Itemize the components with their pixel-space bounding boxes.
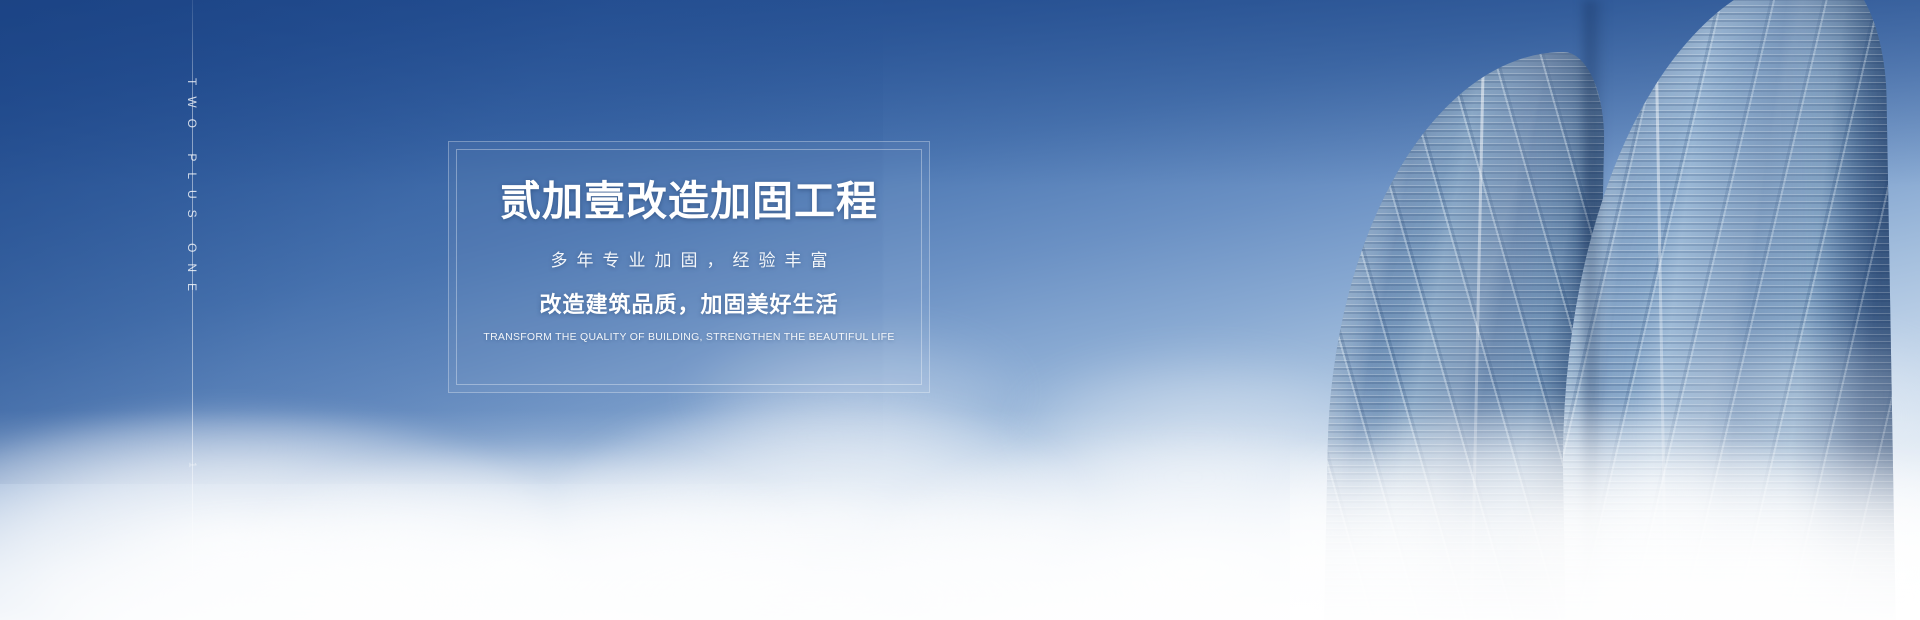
vertical-brand-mark: 1 <box>187 462 198 472</box>
hero-subline: 多年专业加固，经验丰富 <box>542 252 837 269</box>
vertical-brand-text: TWO PLUS ONE <box>185 78 199 302</box>
hero-headline: 贰加壹改造加固工程 <box>500 181 878 222</box>
bottom-haze <box>0 410 1920 620</box>
hero-english-tagline: TRANSFORM THE QUALITY OF BUILDING, STREN… <box>483 332 894 343</box>
hero-tagline: 改造建筑品质，加固美好生活 <box>539 294 838 316</box>
hero-text-panel: 贰加壹改造加固工程 多年专业加固，经验丰富 改造建筑品质，加固美好生活 TRAN… <box>448 141 930 393</box>
hero-banner: TWO PLUS ONE 1 贰加壹改造加固工程 多年专业加固，经验丰富 改造建… <box>0 0 1920 620</box>
hero-text-panel-inner-border: 贰加壹改造加固工程 多年专业加固，经验丰富 改造建筑品质，加固美好生活 TRAN… <box>456 149 922 385</box>
